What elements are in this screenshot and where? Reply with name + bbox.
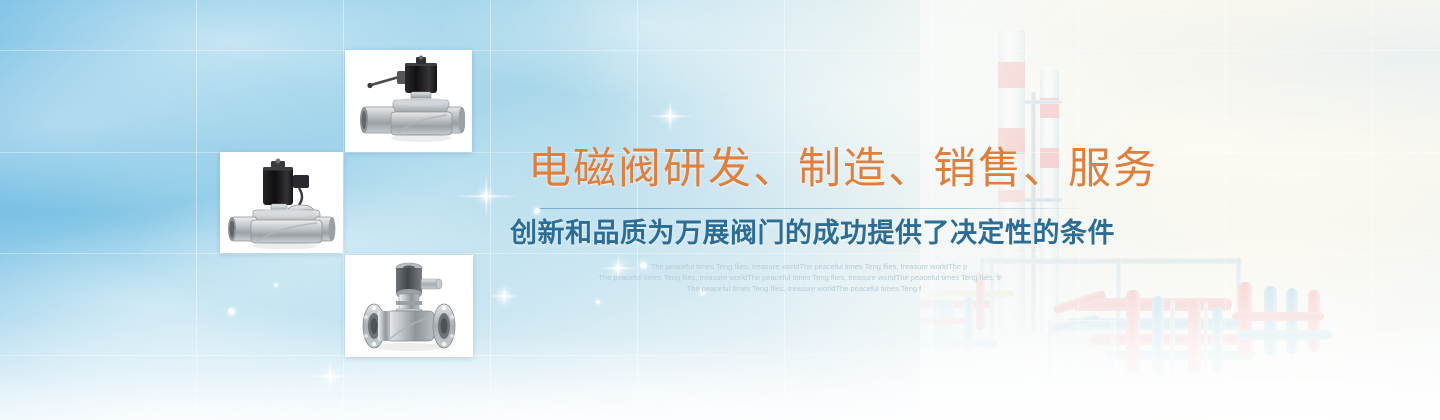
page-subtitle: 创新和品质为万展阀门的成功提供了决定性的条件 xyxy=(510,220,1110,247)
bokeh-dot-6 xyxy=(596,300,600,304)
headline-block: 电磁阀研发、制造、销售、服务 创新和品质为万展阀门的成功提供了决定性的条件 Th… xyxy=(510,148,1110,294)
product-card-2[interactable] xyxy=(220,152,343,253)
product-card-3[interactable] xyxy=(345,255,473,357)
bokeh-dot-4 xyxy=(274,283,278,287)
filler-line-3: The peaceful times Teng flies, treasure … xyxy=(510,283,1090,294)
page-title: 电磁阀研发、制造、销售、服务 xyxy=(528,148,1110,191)
product-card-1[interactable] xyxy=(345,50,472,152)
solenoid-valve-threaded-black-coil-icon xyxy=(353,55,465,147)
title-divider xyxy=(540,208,1088,209)
solenoid-valve-flanged-icon xyxy=(352,259,466,353)
solenoid-valve-threaded-angled-coil-icon xyxy=(227,157,337,249)
hero-banner: 电磁阀研发、制造、销售、服务 创新和品质为万展阀门的成功提供了决定性的条件 Th… xyxy=(0,0,1440,420)
filler-line-2: The peaceful times Teng flies, treasure … xyxy=(510,272,1090,283)
bokeh-dot-3 xyxy=(228,308,235,315)
filler-paragraph: The peaceful times Teng flies, treasure … xyxy=(510,261,1090,294)
filler-line-1: The peaceful times Teng flies, treasure … xyxy=(510,261,1090,272)
